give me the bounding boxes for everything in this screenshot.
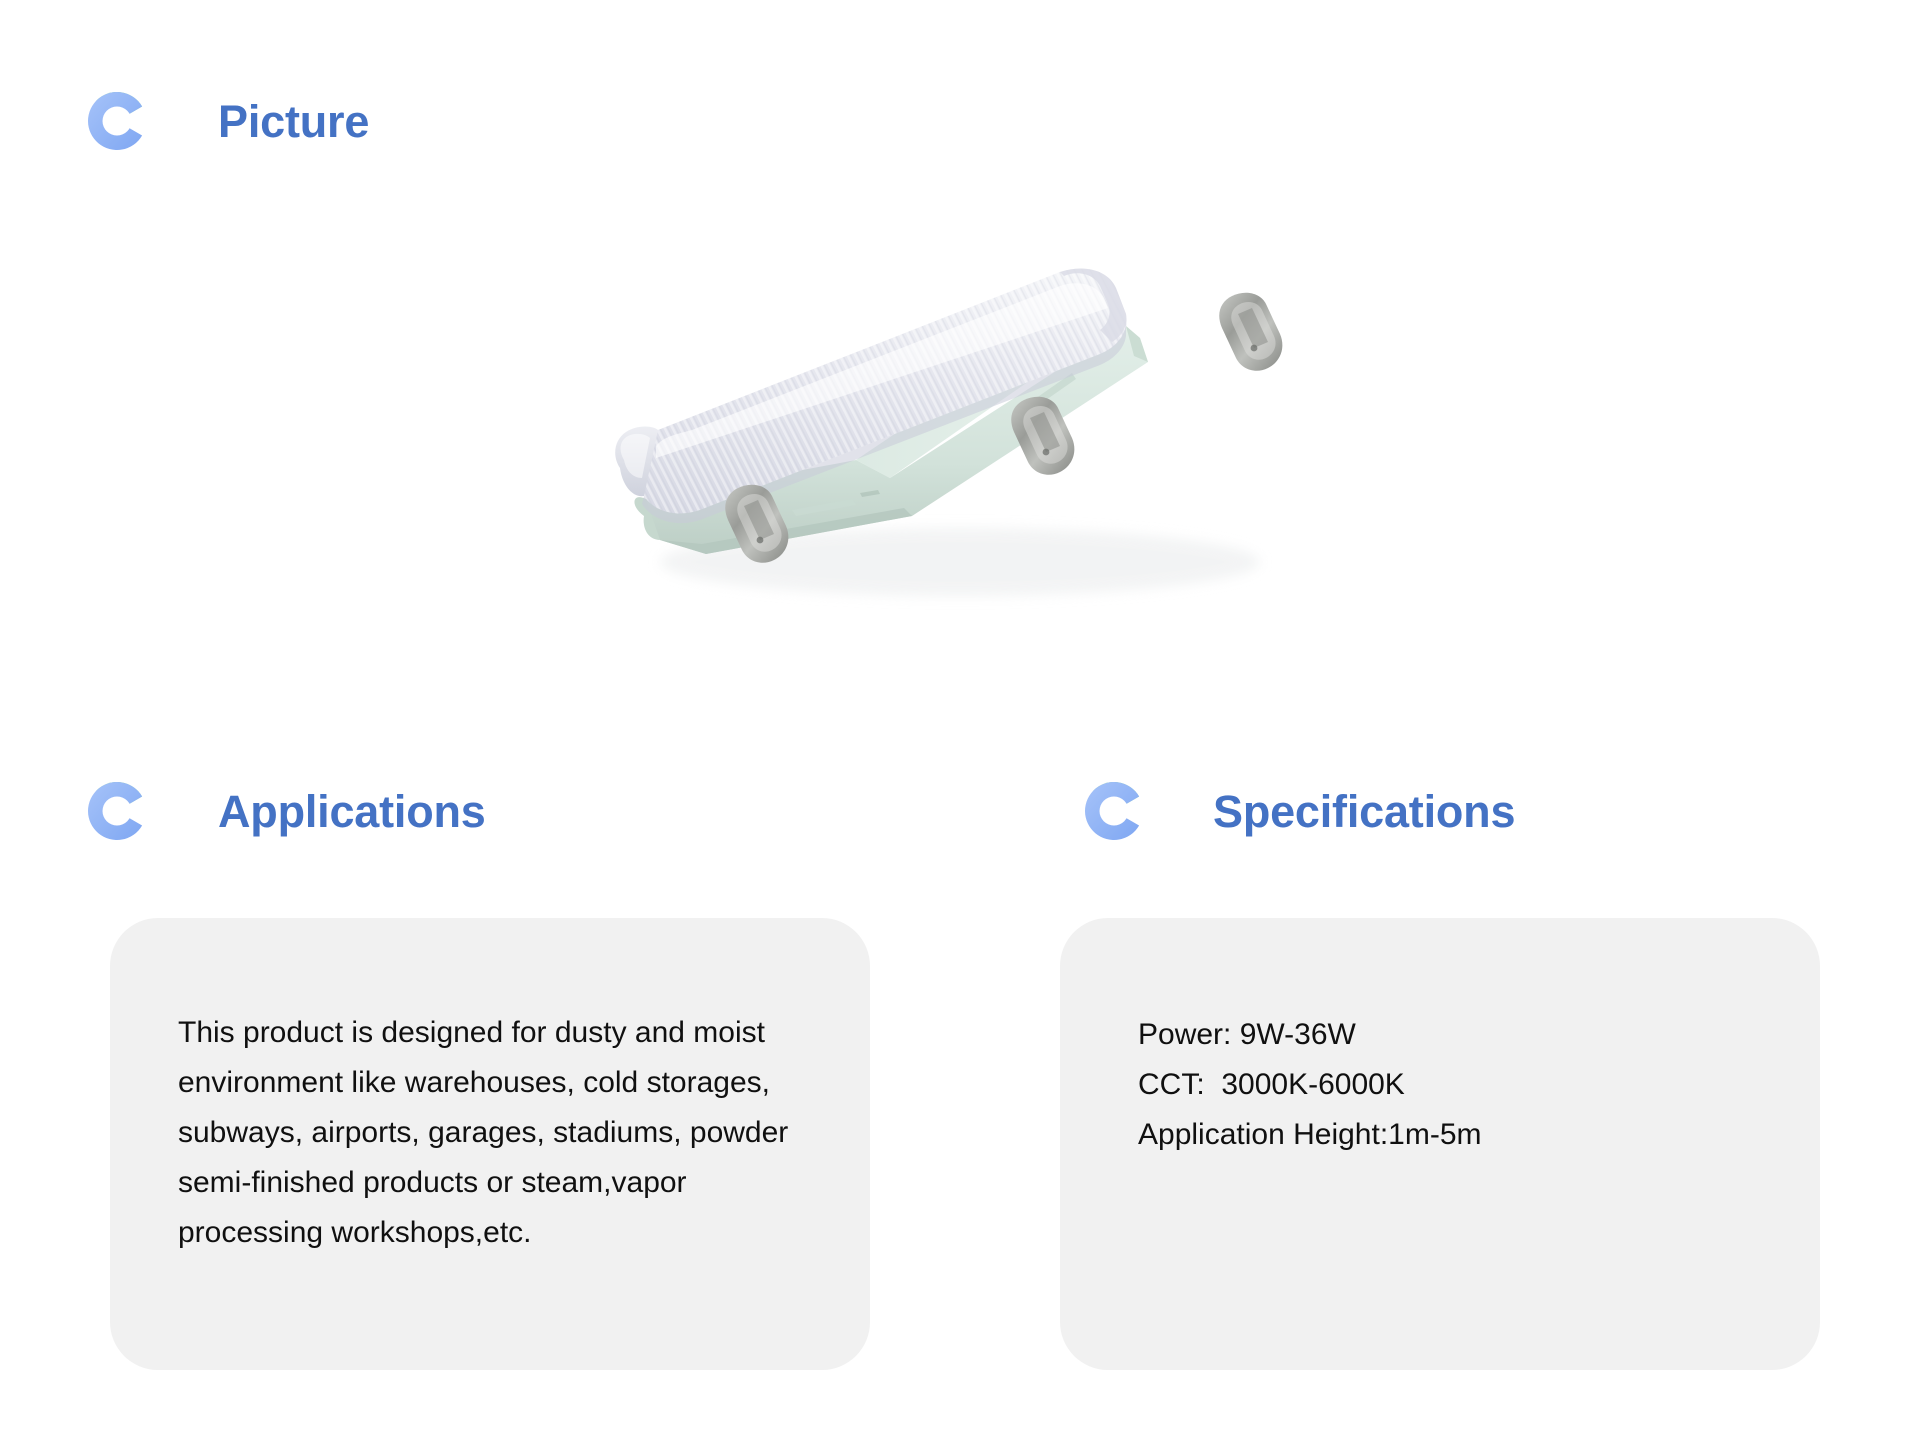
section-title: Applications <box>218 789 486 834</box>
spec-item-cct: CCT: 3000K-6000K <box>1138 1060 1780 1110</box>
applications-card-body: This product is designed for dusty and m… <box>178 1008 830 1258</box>
section-heading-specifications: Specifications <box>1085 782 1515 840</box>
c-ring-logo-icon <box>88 782 146 840</box>
clip-right <box>1219 293 1282 371</box>
section-heading-picture: Picture <box>88 92 369 150</box>
product-info-page: Picture <box>0 0 1920 1440</box>
product-image-led-tri-proof-light <box>560 210 1380 680</box>
spec-item-power: Power: 9W-36W <box>1138 1010 1780 1060</box>
c-ring-logo-icon <box>1085 782 1143 840</box>
section-title: Specifications <box>1213 789 1515 834</box>
c-ring-logo-icon <box>88 92 146 150</box>
applications-card: This product is designed for dusty and m… <box>110 918 870 1370</box>
spec-item-application-height: Application Height:1m-5m <box>1138 1110 1780 1160</box>
section-heading-applications: Applications <box>88 782 486 840</box>
specifications-list: Power: 9W-36W CCT: 3000K-6000K Applicati… <box>1138 1010 1780 1160</box>
specifications-card-body: Power: 9W-36W CCT: 3000K-6000K Applicati… <box>1138 1010 1780 1160</box>
specifications-card: Power: 9W-36W CCT: 3000K-6000K Applicati… <box>1060 918 1820 1370</box>
applications-description: This product is designed for dusty and m… <box>178 1008 798 1258</box>
section-title: Picture <box>218 99 369 144</box>
